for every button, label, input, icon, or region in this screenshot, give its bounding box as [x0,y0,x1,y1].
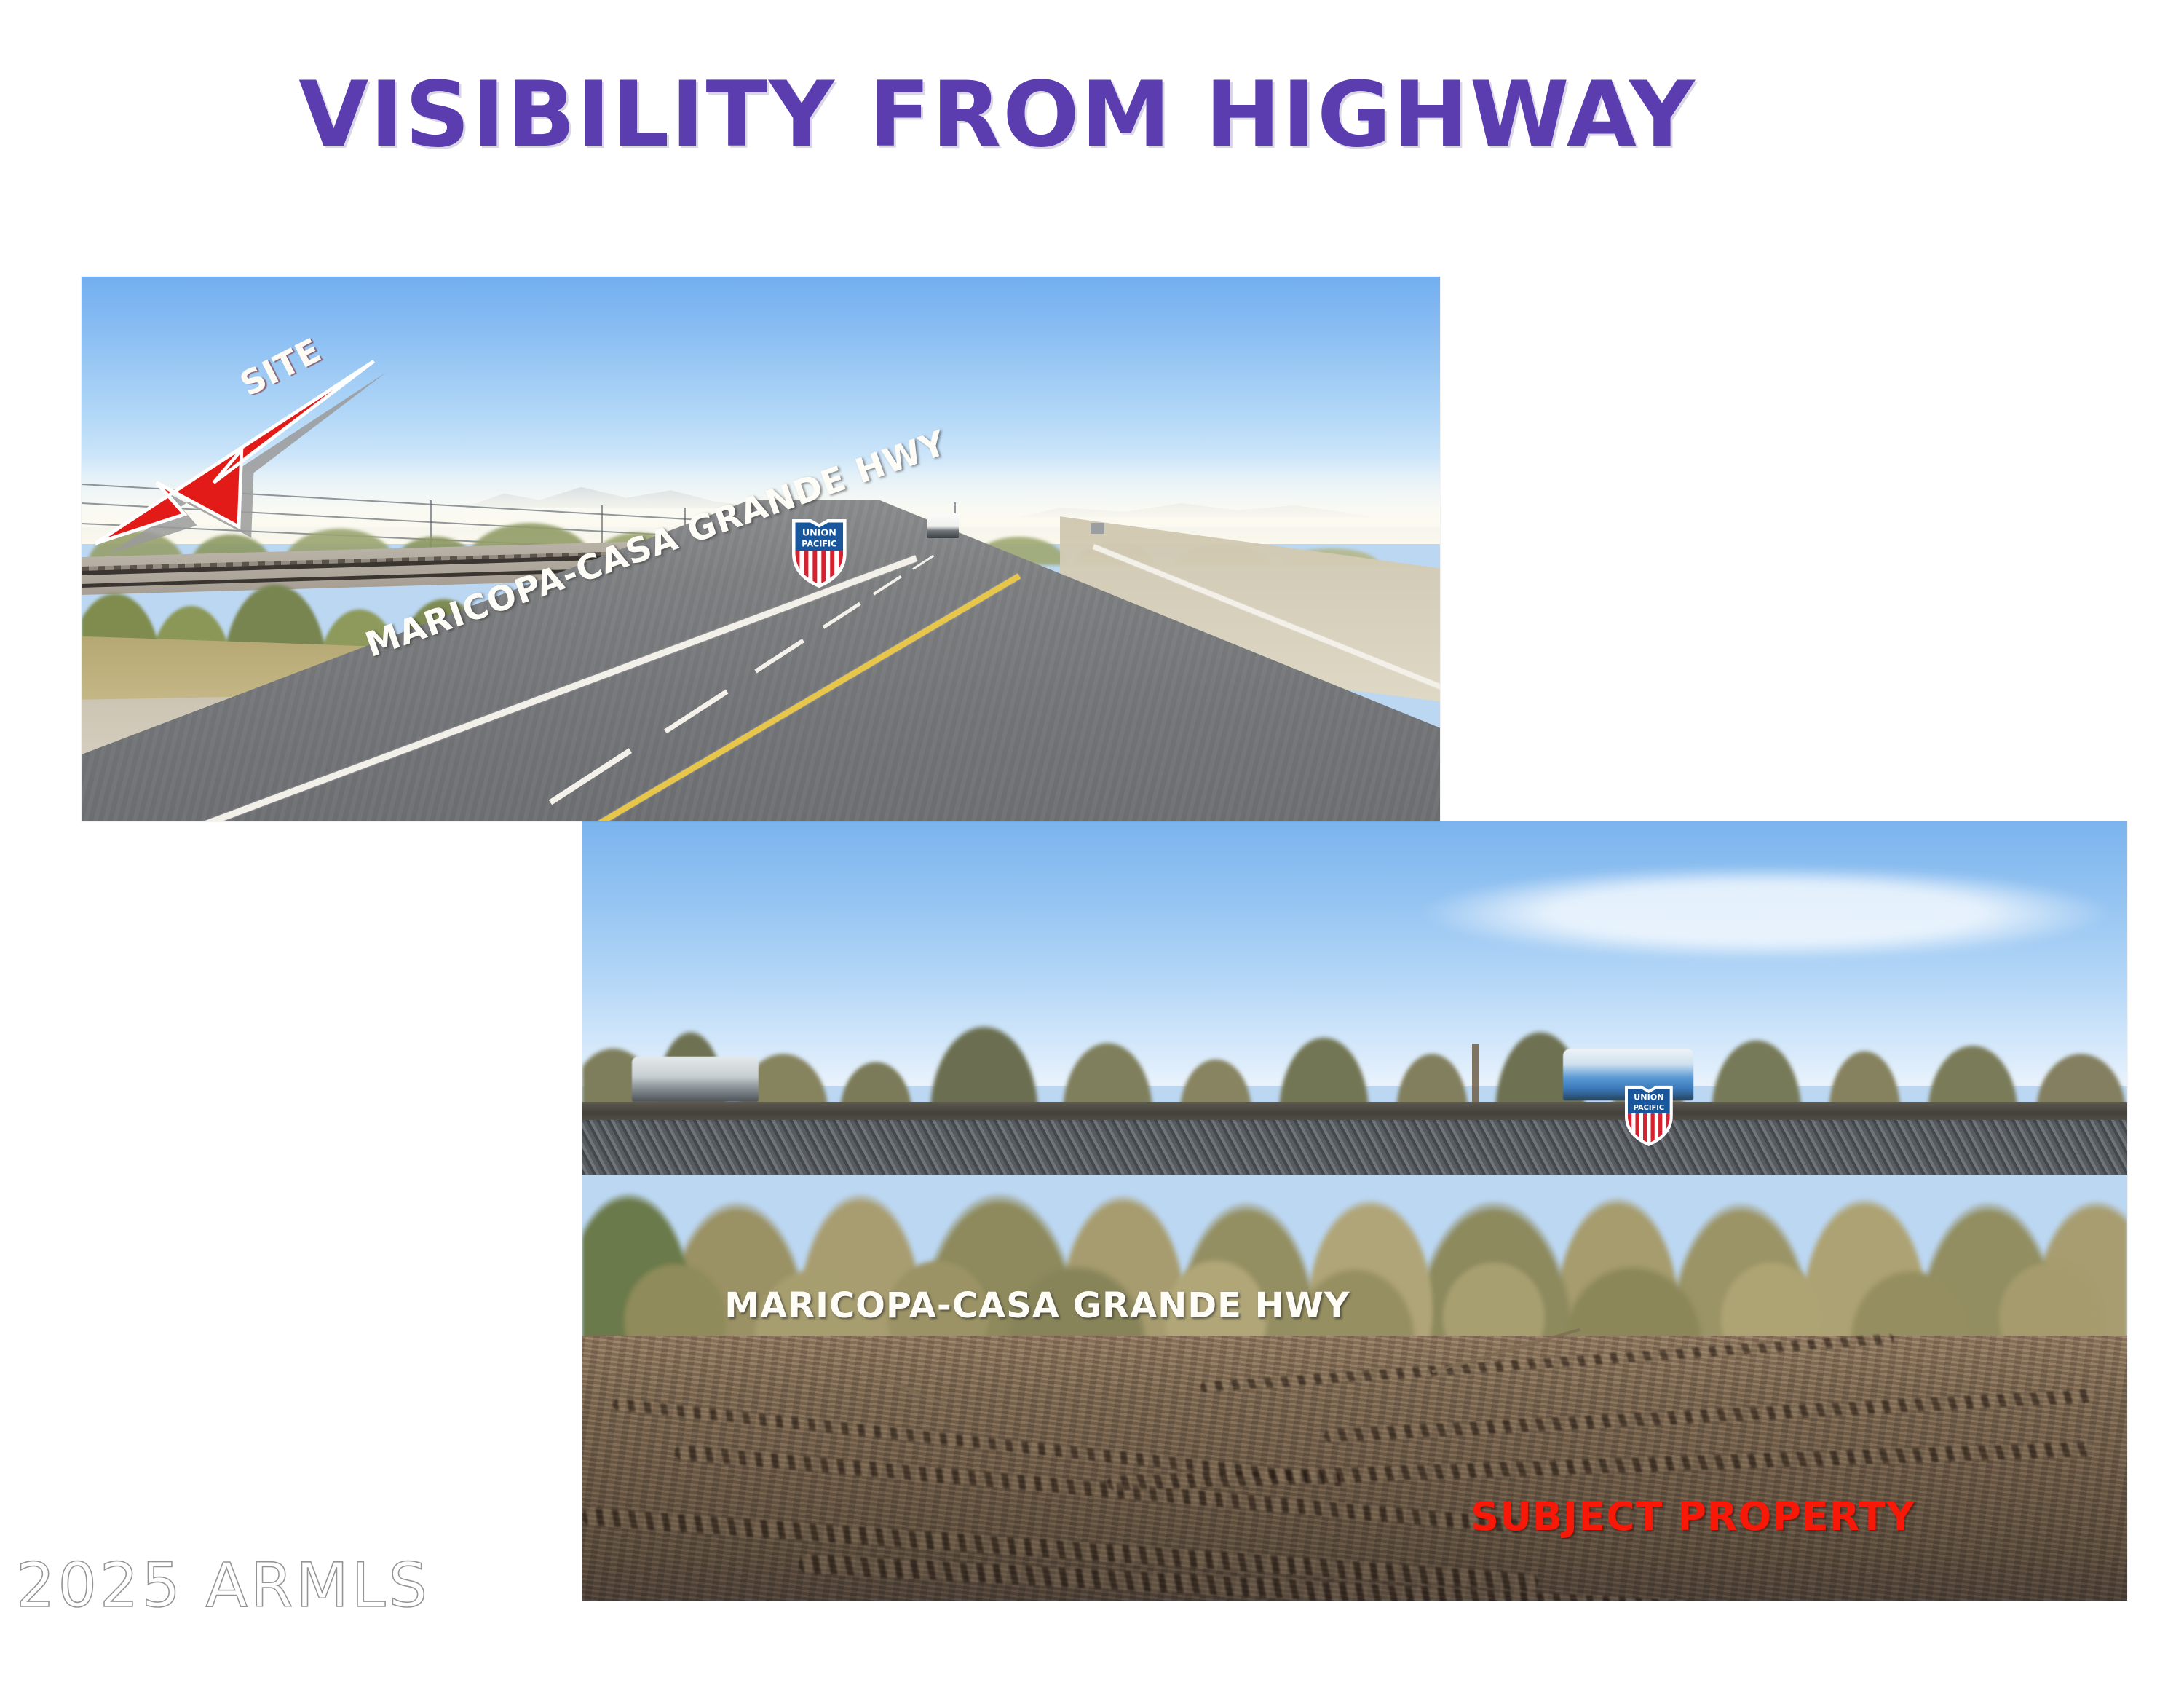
subject-property-photo[interactable]: UNION PACIFIC MARICOPA-CASA GRANDE HWY S… [582,821,2127,1601]
site-pointer-arrow [95,361,374,568]
armls-watermark: 2025 ARMLS [16,1550,430,1621]
union-pacific-logo-icon: UNION PACIFIC [1625,1082,1673,1149]
subject-property-label: SUBJECT PROPERTY [1471,1494,1915,1539]
silver-vehicle [632,1057,759,1102]
distant-vehicle [1091,523,1104,534]
white-truck [927,513,960,538]
highway-name-label: MARICOPA-CASA GRANDE HWY [724,1285,1350,1326]
union-pacific-logo-icon: UNION PACIFIC [792,518,847,588]
highway-view-photo[interactable]: SITE UNIO [82,277,1440,821]
svg-text:UNION: UNION [1634,1093,1664,1103]
svg-text:UNION: UNION [802,527,836,538]
svg-text:PACIFIC: PACIFIC [802,540,836,549]
cloud [1324,853,2127,962]
distant-treeline [582,1020,2127,1113]
page-title: VISIBILITY FROM HIGHWAY [0,70,1995,160]
svg-text:PACIFIC: PACIFIC [1634,1104,1665,1112]
